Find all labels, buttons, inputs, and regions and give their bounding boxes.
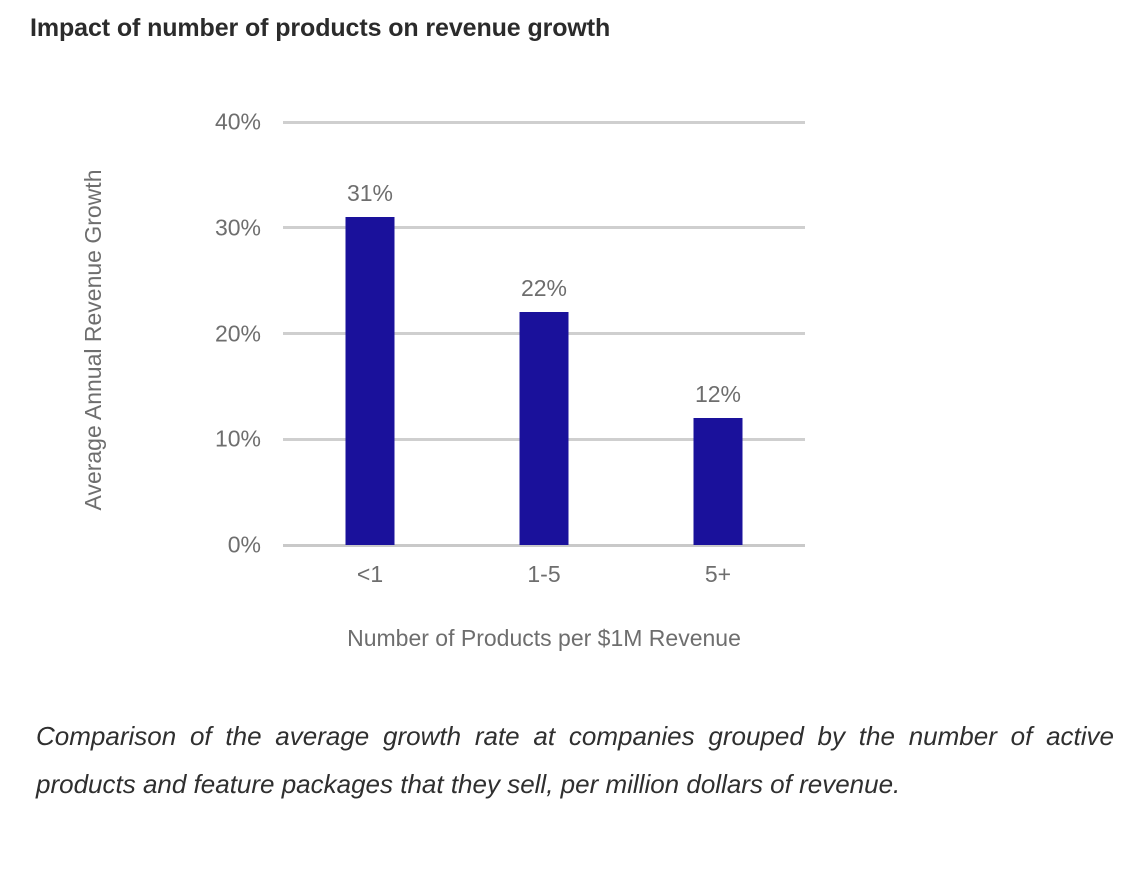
page-title: Impact of number of products on revenue … xyxy=(30,14,610,43)
y-tick-label: 0% xyxy=(228,532,261,559)
figure-caption-text: Comparison of the average growth rate at… xyxy=(36,721,1114,799)
x-tick-label: 1-5 xyxy=(527,561,560,588)
bar-value-label: 12% xyxy=(695,381,741,408)
y-tick-label: 40% xyxy=(215,109,261,136)
x-tick-label: <1 xyxy=(357,561,383,588)
figure-container: Impact of number of products on revenue … xyxy=(0,0,1148,874)
bar-2[interactable] xyxy=(520,312,569,545)
x-axis-title: Number of Products per $1M Revenue xyxy=(283,625,805,652)
gridline xyxy=(283,121,805,124)
y-tick-label: 30% xyxy=(215,214,261,241)
x-tick-label: 5+ xyxy=(705,561,731,588)
plot-area: 0%10%20%30%40%31%<122%1-512%5+ xyxy=(283,122,805,545)
bar-chart: Average Annual Revenue Growth 0%10%20%30… xyxy=(0,95,1148,675)
y-axis-title: Average Annual Revenue Growth xyxy=(78,120,108,560)
bar-1[interactable] xyxy=(346,217,395,545)
bar-value-label: 22% xyxy=(521,275,567,302)
figure-caption: Comparison of the average growth rate at… xyxy=(36,712,1114,808)
bar-value-label: 31% xyxy=(347,180,393,207)
y-tick-label: 10% xyxy=(215,426,261,453)
bar-3[interactable] xyxy=(694,418,743,545)
y-tick-label: 20% xyxy=(215,320,261,347)
